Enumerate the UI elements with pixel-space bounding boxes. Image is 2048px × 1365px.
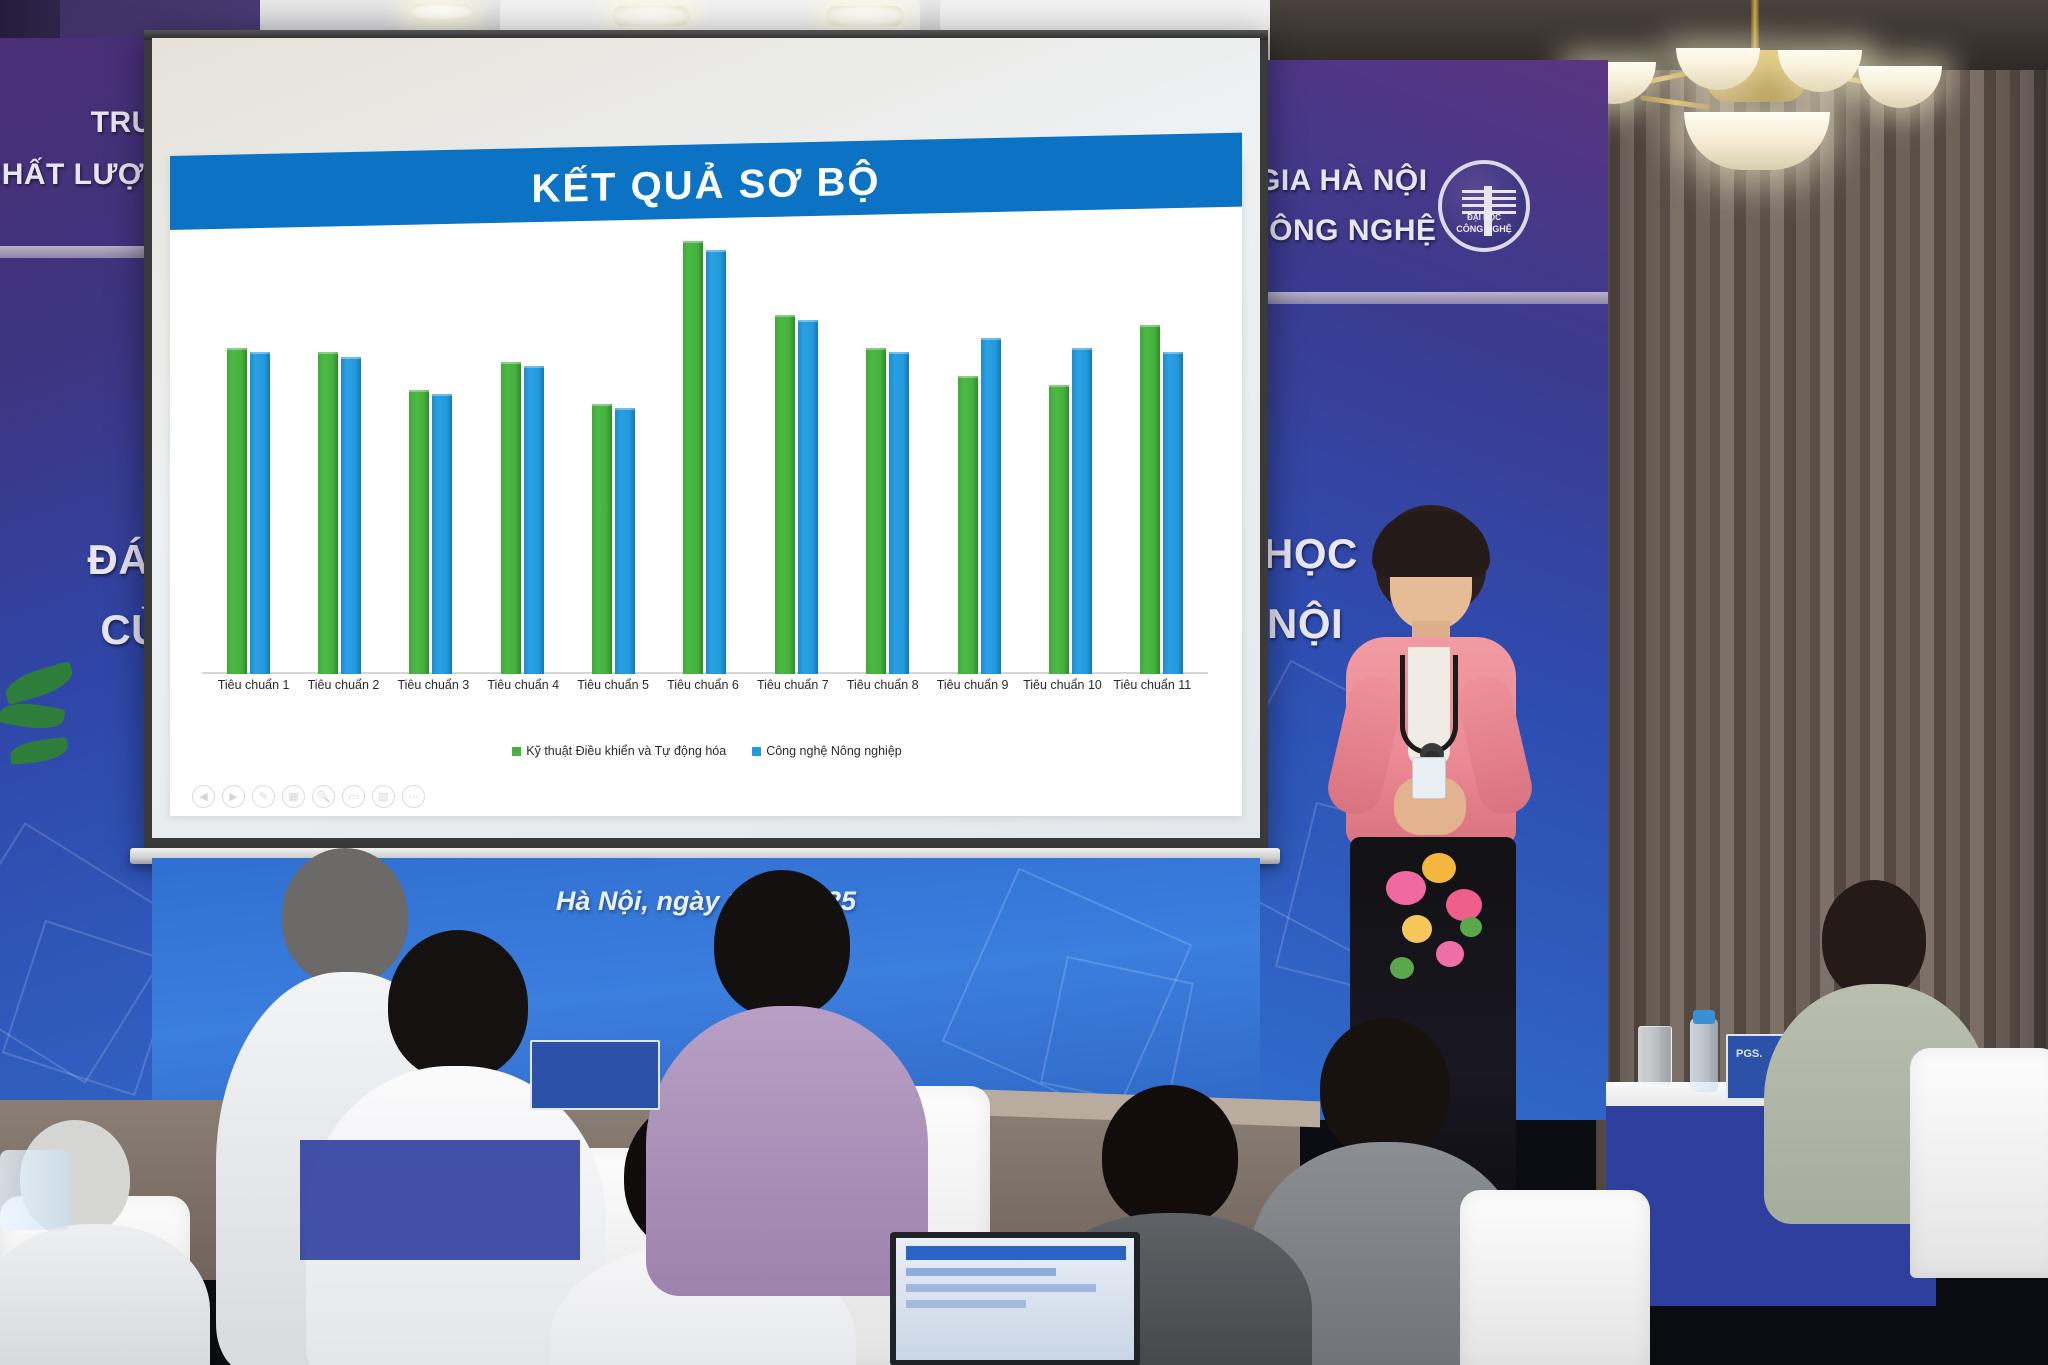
conference-room-scene: TRUN CHẤT LƯỢNG ĐÁN CỦ GIA HÀ NỘI CÔNG N… [0,0,2048,1365]
bar [775,315,795,674]
skirt-flower [1386,871,1426,905]
ceiling-light [410,4,472,20]
bar-group [391,390,472,674]
skirt-leaf [1460,917,1482,937]
water-bottle-cap [1693,1010,1715,1024]
chandelier-arm [1640,95,1710,110]
chair [1460,1190,1650,1365]
previous-slide-icon[interactable]: ◀ [192,785,215,808]
presenter-hair-front [1372,511,1490,577]
bar [889,352,909,674]
plant-leaf [9,737,69,765]
subtitles-icon[interactable]: ▭ [342,785,365,808]
x-axis-label: Tiêu chuẩn 6 [663,678,742,704]
water-glass [1638,1026,1672,1086]
potted-plant [0,640,90,820]
legend-swatch-icon [752,747,761,756]
bar-group [756,315,837,674]
all-slides-icon[interactable]: ▦ [282,785,305,808]
x-axis-label: Tiêu chuẩn 11 [1113,678,1192,704]
bar [706,250,726,674]
water-bottle [0,1150,70,1230]
bar-group [208,348,289,674]
x-axis-label: Tiêu chuẩn 5 [574,678,653,704]
presenter-lanyard [1400,655,1458,755]
powerpoint-slide[interactable]: KẾT QUẢ SƠ BỘ Tiêu chuẩn 1Tiêu chuẩn 2Ti… [170,156,1242,816]
bar [250,352,270,674]
pen-icon[interactable]: ✎ [252,785,275,808]
more-options-icon[interactable]: ⋯ [402,785,425,808]
front-name-card [530,1040,660,1110]
legend-label: Kỹ thuật Điều khiển và Tự động hóa [526,744,726,758]
legend-swatch-icon [512,747,521,756]
x-axis-label: Tiêu chuẩn 10 [1023,678,1102,704]
camera-off-icon[interactable]: ▧ [372,785,395,808]
zoom-icon[interactable]: 🔍 [312,785,335,808]
x-axis-label: Tiêu chuẩn 2 [304,678,383,704]
audience-head [1102,1085,1238,1227]
water-bottle [1690,1018,1718,1092]
audience-head [1822,880,1926,998]
banner-divider [1253,292,1608,304]
uet-logo: ĐẠI HỌC CÔNG NGHỆ [1438,160,1530,252]
legend-item: Kỹ thuật Điều khiển và Tự động hóa [512,744,726,758]
bar [798,320,818,674]
skirt-flower [1446,889,1482,921]
laptop-screen[interactable] [890,1232,1140,1365]
chandelier-lamp [1858,66,1942,108]
x-axis-label: Tiêu chuẩn 7 [753,678,832,704]
bar [683,241,703,674]
skirt-flower [1422,853,1456,883]
x-axis-labels: Tiêu chuẩn 1Tiêu chuẩn 2Tiêu chuẩn 3Tiêu… [212,678,1194,704]
laptop-content-line [906,1284,1096,1292]
chandelier-bowl [1684,112,1830,170]
projection-screen: KẾT QUẢ SƠ BỘ Tiêu chuẩn 1Tiêu chuẩn 2Ti… [152,38,1260,838]
bar [958,376,978,674]
right-banner-line2: CÔNG NGHỆ [1253,214,1437,248]
x-axis-label: Tiêu chuẩn 3 [394,678,473,704]
bar [432,394,452,674]
uet-logo-text-1: ĐẠI HỌC [1467,213,1501,222]
bar-group [299,352,380,674]
bar-chart: Tiêu chuẩn 1Tiêu chuẩn 2Tiêu chuẩn 3Tiêu… [192,242,1222,742]
bar [1049,385,1069,674]
ceiling-light [826,6,904,26]
audience-member [660,870,910,1270]
x-axis-label: Tiêu chuẩn 8 [843,678,922,704]
powerpoint-presenter-toolbar[interactable]: ◀▶✎▦🔍▭▧⋯ [192,785,425,808]
skirt-leaf [1390,957,1414,979]
chair [1910,1048,2048,1278]
bar-groups [202,242,1208,674]
laptop-content-line [906,1268,1056,1276]
bar [1140,325,1160,675]
audience-torso [0,1224,210,1365]
bar-group [573,404,654,674]
bar-group [847,348,928,674]
bar [227,348,247,674]
name-card-text: PGS. [1736,1048,1762,1060]
bar-group [939,338,1020,674]
next-slide-icon[interactable]: ▶ [222,785,245,808]
legend-item: Công nghệ Nông nghiệp [752,744,902,758]
bar-group [665,241,746,674]
skirt-flower [1402,915,1432,943]
bar [341,357,361,674]
audience-head [1320,1018,1450,1158]
bar [524,366,544,674]
ceiling-light [612,6,690,26]
bar [501,362,521,674]
plant-leaf [2,661,76,705]
bar [866,348,886,674]
bar-group [482,362,563,674]
chart-plot-area: Tiêu chuẩn 1Tiêu chuẩn 2Tiêu chuẩn 3Tiêu… [202,242,1208,708]
legend-label: Công nghệ Nông nghiệp [766,744,902,758]
bar-group [1121,325,1202,675]
chart-legend: Kỹ thuật Điều khiển và Tự động hóaCông n… [192,744,1222,758]
x-axis-label: Tiêu chuẩn 1 [214,678,293,704]
skirt-flower [1436,941,1464,967]
uet-logo-text-2: CÔNG NGHỆ [1456,224,1512,234]
audience-head [388,930,528,1080]
bar [1072,348,1092,674]
ceiling-panel [940,0,1270,30]
presenter-badge [1412,757,1446,799]
bar [981,338,1001,674]
bar [615,408,635,674]
audience-head [714,870,850,1018]
x-axis-label: Tiêu chuẩn 9 [933,678,1012,704]
audience-torso [646,1006,928,1296]
bar [409,390,429,674]
bar [318,352,338,674]
front-table-cloth [300,1140,580,1260]
x-axis-label: Tiêu chuẩn 4 [484,678,563,704]
bar-group [1030,348,1111,674]
right-banner-line1: GIA HÀ NỘI [1257,164,1428,198]
laptop-titlebar [906,1246,1126,1260]
chandelier [1566,0,1946,230]
laptop-content-line [906,1300,1026,1308]
bar [1163,352,1183,674]
bar [592,404,612,674]
